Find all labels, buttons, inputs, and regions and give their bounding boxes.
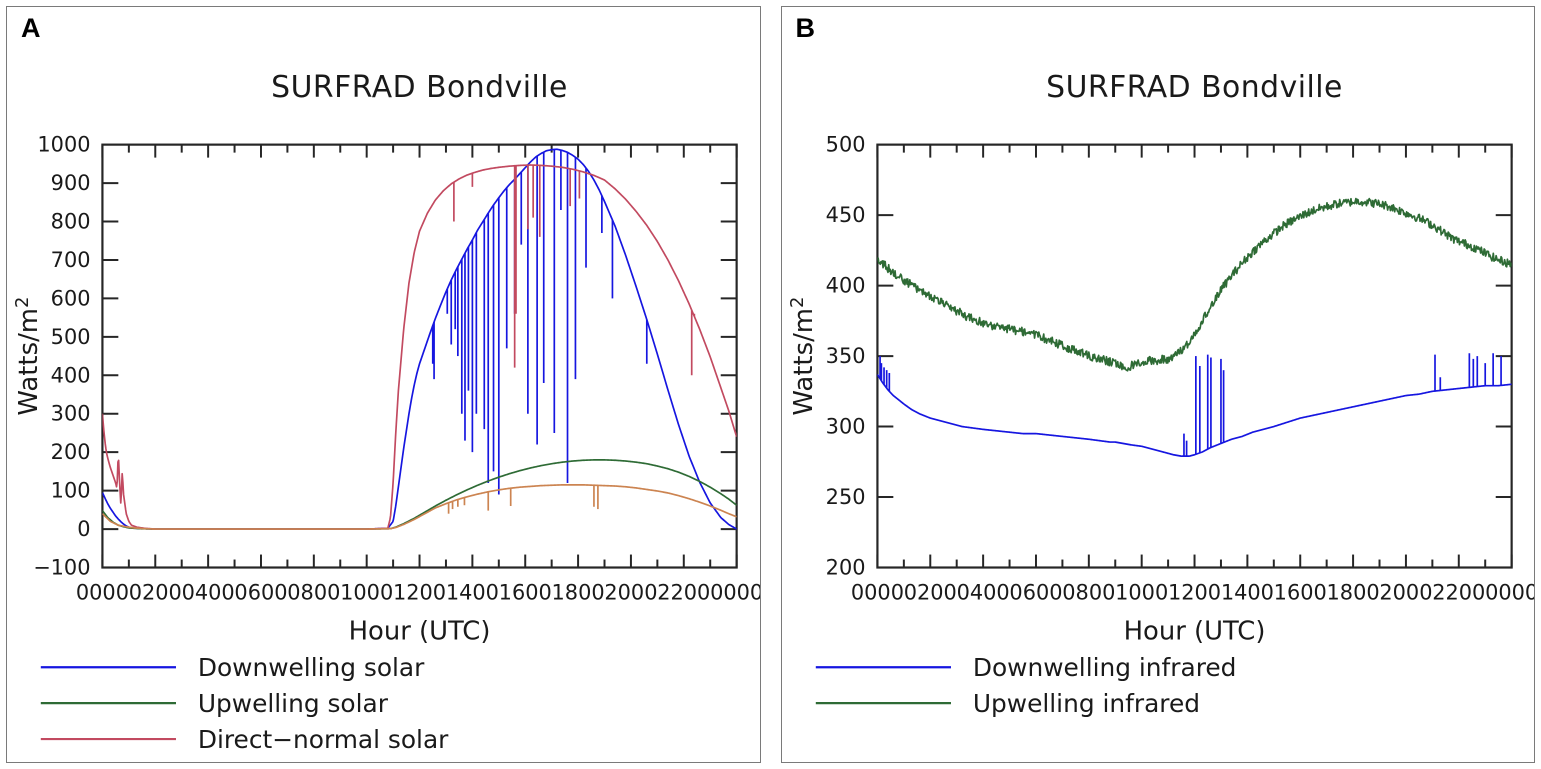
legend: Downwelling infraredUpwelling infrared xyxy=(815,653,1236,718)
x-tick-label: 2000 xyxy=(604,580,657,604)
x-tick-label: 1000 xyxy=(340,580,393,604)
y-tick-label: 1000 xyxy=(37,133,90,157)
y-tick-label: −100 xyxy=(33,555,90,579)
series-line xyxy=(102,485,736,529)
y-tick-label: 800 xyxy=(51,209,91,233)
legend-label: Direct−normal solar xyxy=(198,725,449,754)
x-axis-label: Hour (UTC) xyxy=(349,616,491,646)
legend-label: Upwelling infrared xyxy=(972,689,1199,718)
x-tick-label: 2000 xyxy=(1379,580,1432,604)
x-tick-label: 0200 xyxy=(903,580,956,604)
x-axis-label: Hour (UTC) xyxy=(1123,616,1265,646)
legend-label: Downwelling solar xyxy=(198,653,425,682)
plot-frame xyxy=(102,145,736,568)
y-tick-label: 200 xyxy=(51,440,91,464)
chart-title: SURFRAD Bondville xyxy=(271,70,568,105)
svg-text:Watts/m2: Watts/m2 xyxy=(786,297,818,416)
data-series-group xyxy=(877,199,1511,457)
y-axis-label: Watts/m2 xyxy=(786,297,818,416)
panel-a: A SURFRAD Bondville000002000400060008001… xyxy=(6,6,761,763)
x-tick-label: 0000 xyxy=(1485,580,1534,604)
x-tick-label: 1600 xyxy=(1273,580,1326,604)
x-tick-label: 1800 xyxy=(552,580,605,604)
svg-text:Watts/m2: Watts/m2 xyxy=(12,297,44,416)
y-axis: 200250300350400450500 xyxy=(825,133,1511,580)
y-tick-label: 400 xyxy=(825,274,865,298)
x-tick-label: 0400 xyxy=(956,580,1009,604)
series-line xyxy=(877,374,1511,456)
x-tick-label: 2200 xyxy=(1432,580,1485,604)
panel-b-letter: B xyxy=(796,15,816,42)
legend-label: Measured Diffuse xyxy=(198,761,414,762)
x-tick-label: 1200 xyxy=(1167,580,1220,604)
y-axis-label: Watts/m2 xyxy=(12,297,44,416)
legend-label: Downwelling infrared xyxy=(972,653,1236,682)
x-tick-label: 0000 xyxy=(710,580,759,604)
y-tick-label: 350 xyxy=(825,344,865,368)
legend: Downwelling solarUpwelling solarDirect−n… xyxy=(41,653,449,762)
chart-panel-b: SURFRAD Bondville00000200040006000800100… xyxy=(782,7,1535,762)
y-tick-label: 600 xyxy=(51,286,91,310)
y-tick-label: 300 xyxy=(825,415,865,439)
series-line xyxy=(102,165,736,529)
data-series-group xyxy=(102,149,736,529)
x-axis: 0000020004000600080010001200140016001800… xyxy=(76,145,760,647)
y-tick-label: 100 xyxy=(51,479,91,503)
y-tick-label: 200 xyxy=(825,555,865,579)
x-tick-label: 0800 xyxy=(1062,580,1115,604)
series-line xyxy=(102,149,736,529)
x-tick-label: 0400 xyxy=(182,580,235,604)
y-axis: −10001002003004005006007008009001000 xyxy=(33,133,736,580)
y-tick-label: 0 xyxy=(77,517,90,541)
x-tick-label: 1000 xyxy=(1115,580,1168,604)
panel-b: B SURFRAD Bondville000002000400060008001… xyxy=(781,6,1536,763)
plot-frame xyxy=(877,145,1511,568)
legend-label: Upwelling solar xyxy=(198,689,389,718)
x-tick-label: 1800 xyxy=(1326,580,1379,604)
chart-panel-a: SURFRAD Bondville00000200040006000800100… xyxy=(7,7,760,762)
x-tick-label: 0800 xyxy=(287,580,340,604)
series-line xyxy=(102,460,736,529)
y-tick-label: 900 xyxy=(51,171,91,195)
y-tick-label: 500 xyxy=(51,325,91,349)
y-tick-label: 700 xyxy=(51,248,91,272)
x-tick-label: 0000 xyxy=(76,580,129,604)
x-tick-label: 1400 xyxy=(1220,580,1273,604)
y-tick-label: 500 xyxy=(825,133,865,157)
x-tick-label: 0200 xyxy=(129,580,182,604)
x-tick-label: 0000 xyxy=(850,580,903,604)
x-tick-label: 1200 xyxy=(393,580,446,604)
x-tick-label: 1400 xyxy=(446,580,499,604)
y-tick-label: 250 xyxy=(825,485,865,509)
y-tick-label: 450 xyxy=(825,203,865,227)
x-tick-label: 0600 xyxy=(234,580,287,604)
y-tick-label: 300 xyxy=(51,402,91,426)
series-line xyxy=(877,199,1511,371)
x-tick-label: 1600 xyxy=(499,580,552,604)
panel-a-letter: A xyxy=(21,15,41,42)
x-tick-label: 0600 xyxy=(1009,580,1062,604)
figure-root: A SURFRAD Bondville000002000400060008001… xyxy=(0,0,1541,769)
y-tick-label: 400 xyxy=(51,363,91,387)
chart-title: SURFRAD Bondville xyxy=(1046,70,1343,105)
x-tick-label: 2200 xyxy=(657,580,710,604)
x-axis: 0000020004000600080010001200140016001800… xyxy=(850,145,1534,647)
